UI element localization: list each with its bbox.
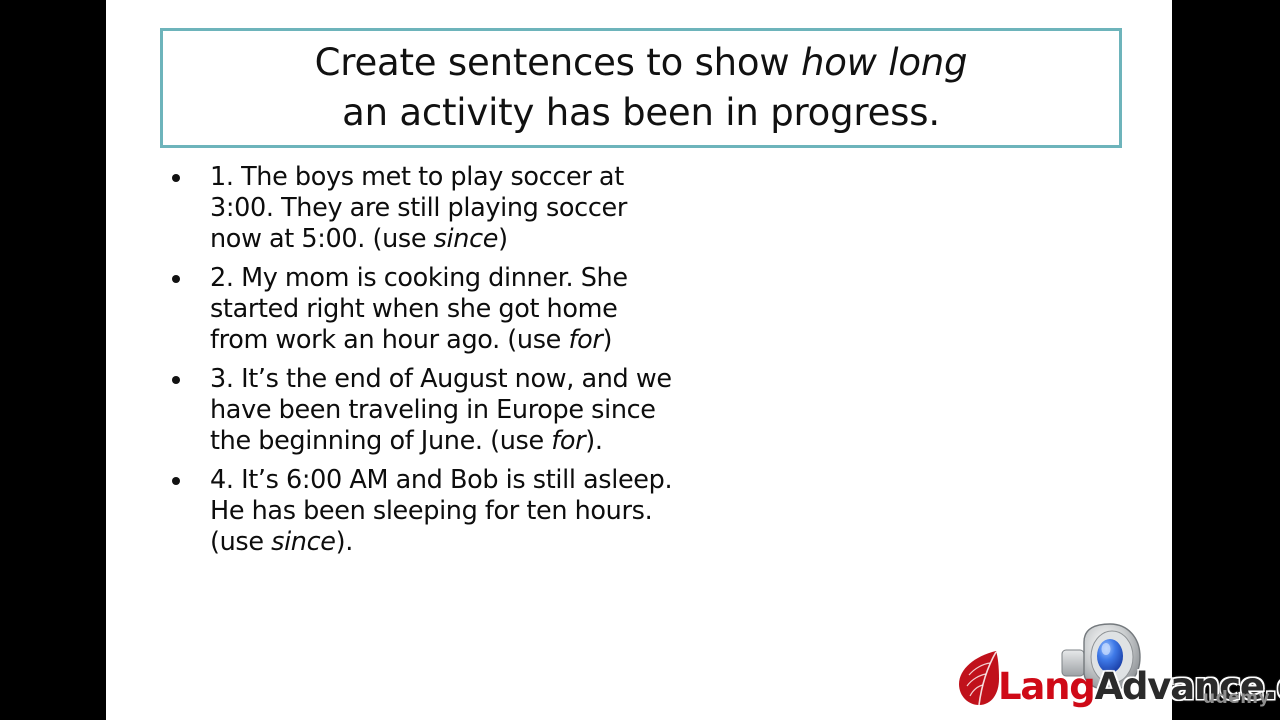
slide-canvas: Create sentences to show how long an act… — [106, 0, 1172, 720]
video-player-frame: Create sentences to show how long an act… — [0, 0, 1280, 720]
bullet-text-pre: 2. My mom is cooking dinner. She started… — [210, 263, 628, 355]
bullet-text-emphasis: for — [551, 426, 585, 456]
bullet-text-emphasis: for — [568, 325, 602, 355]
pillarbox-left — [0, 0, 106, 720]
slide-bullet-list: 1. The boys met to play soccer at 3:00. … — [162, 162, 682, 566]
bullet-text-post: ). — [336, 527, 353, 557]
list-item: 2. My mom is cooking dinner. She started… — [162, 263, 682, 356]
list-item: 1. The boys met to play soccer at 3:00. … — [162, 162, 682, 255]
list-item: 4. It’s 6:00 AM and Bob is still asleep.… — [162, 465, 682, 558]
bullet-text-emphasis: since — [434, 224, 499, 254]
title-line1-emphasis: how long — [801, 41, 967, 84]
list-item: 3. It’s the end of August now, and we ha… — [162, 364, 682, 457]
bullet-text-post: ) — [602, 325, 612, 355]
slide-title-box: Create sentences to show how long an act… — [160, 28, 1122, 148]
bullet-text-pre: 1. The boys met to play soccer at 3:00. … — [210, 162, 627, 254]
title-line1-pre: Create sentences to show — [315, 41, 801, 84]
title-line2: an activity has been in progress. — [342, 91, 940, 134]
bullet-text-post: ) — [498, 224, 508, 254]
bullet-text-post: ). — [585, 426, 602, 456]
slide-title: Create sentences to show how long an act… — [305, 38, 978, 139]
pillarbox-right — [1172, 0, 1280, 720]
bullet-text-emphasis: since — [271, 527, 336, 557]
